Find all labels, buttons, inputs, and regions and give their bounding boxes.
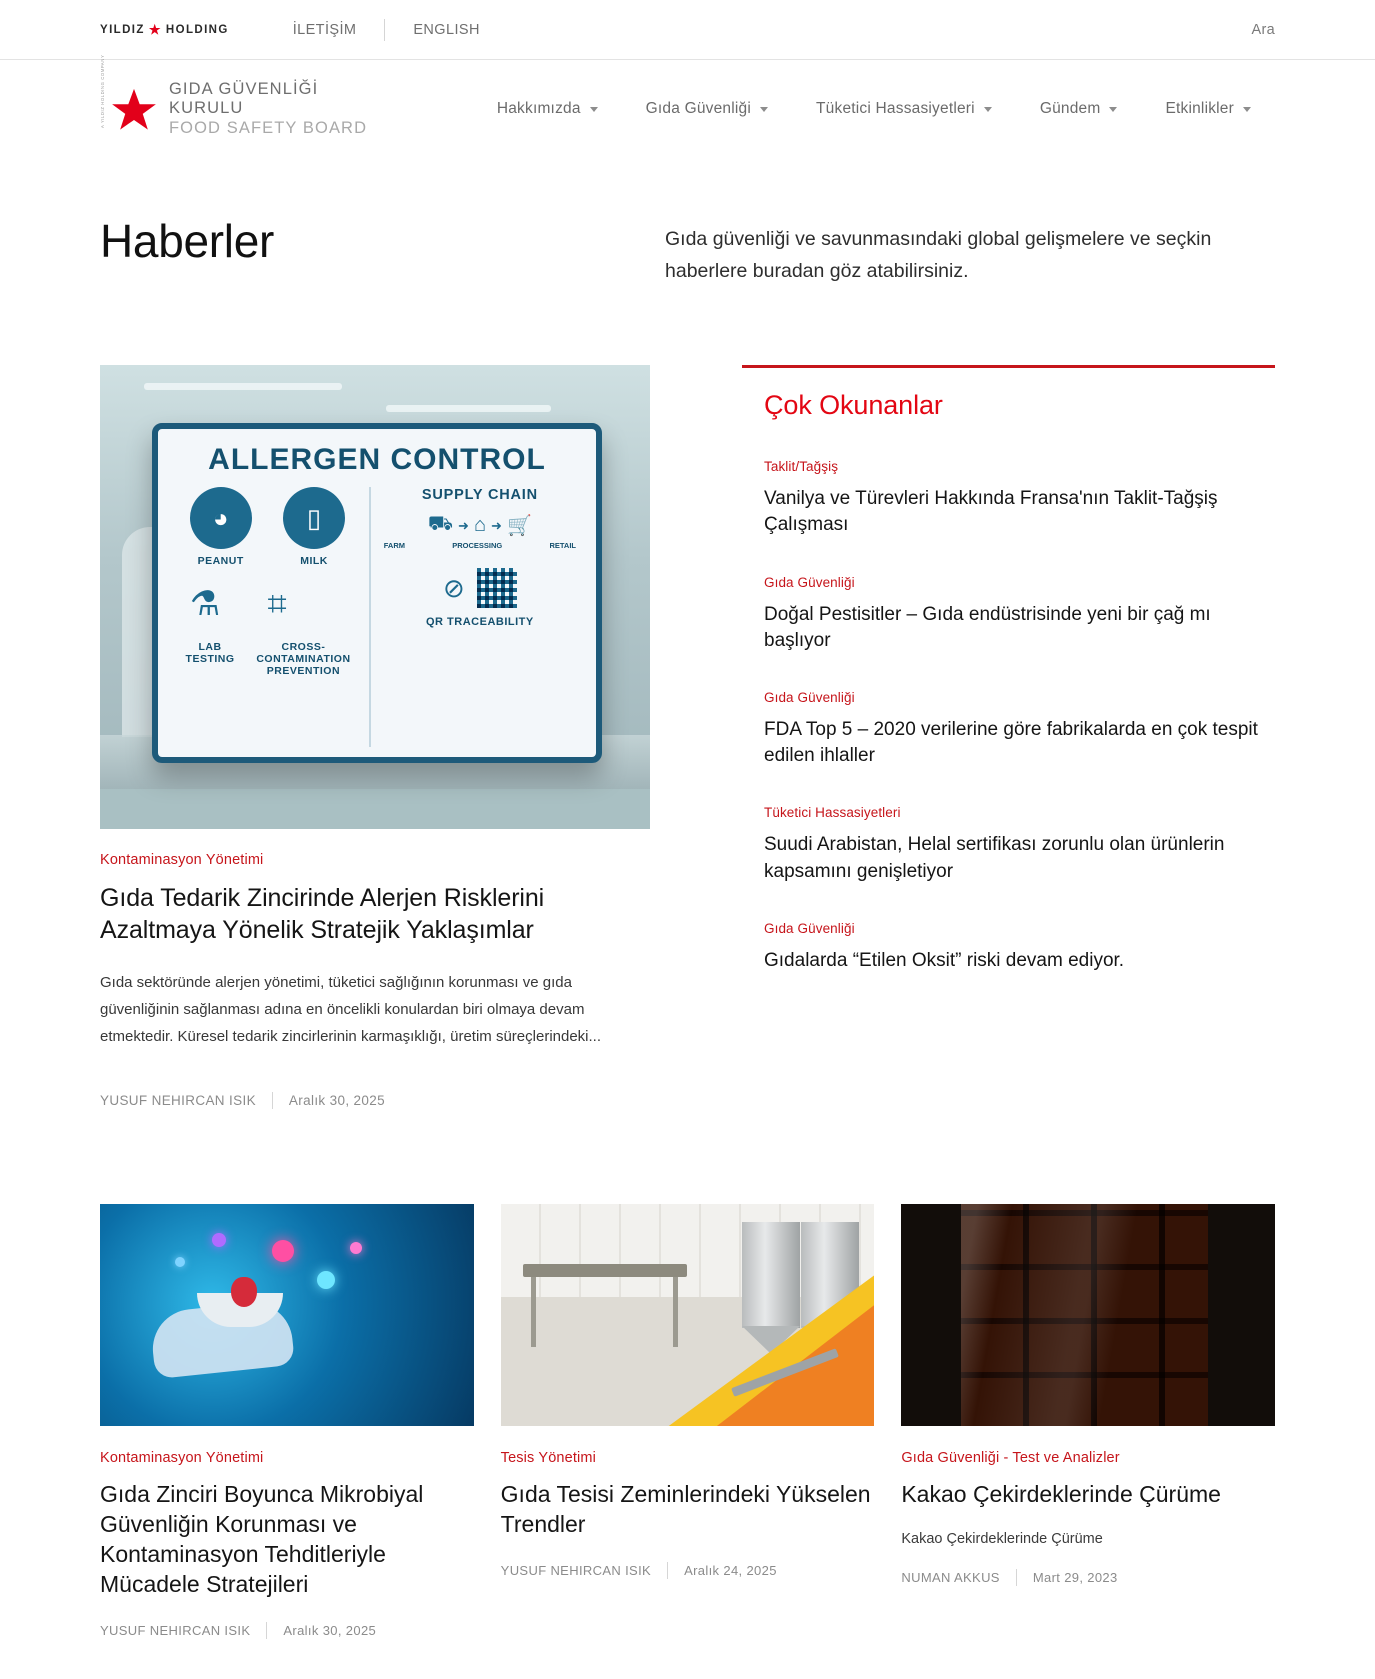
meta-divider [667,1562,668,1579]
table-leg [531,1277,536,1347]
star-icon: ★ [149,23,162,36]
microbe-icon [212,1233,226,1247]
supply-chain-labels: FARM PROCESSING RETAIL [380,541,580,550]
ceiling-light [386,405,551,412]
processing-icon: ⌂ [474,514,486,537]
page-subtitle: Gıda güvenliği ve savunmasındaki global … [665,216,1225,287]
cross-contamination-group: ⌗ CROSS-CONTAMINATION PREVENTION [246,573,361,677]
brand-text: GIDA GÜVENLİĞİ KURULU FOOD SAFETY BOARD [169,80,381,138]
sidebar-item-category[interactable]: Gıda Güvenliği [764,575,1275,590]
milk-icon-group: ▯ MILK [283,487,345,567]
chocolate-highlight [961,1204,1208,1426]
method-icon-row: ⚗ LAB TESTING ⌗ CROSS-CONTAMINATION PREV… [174,573,361,677]
cross-contamination-label: CROSS-CONTAMINATION PREVENTION [246,641,361,677]
content-grid: ALLERGEN CONTROL ◕ PEANUT ▯ MILK [0,287,1375,1109]
search-trigger[interactable]: Ara [1252,22,1275,38]
article-card: Gıda Güvenliği - Test ve Analizler Kakao… [901,1204,1275,1639]
card-meta: YUSUF NEHIRCAN ISIK Aralık 24, 2025 [501,1562,875,1579]
chain-label-processing: PROCESSING [452,541,502,550]
sidebar-list: Taklit/Tağşiş Vanilya ve Türevleri Hakkı… [764,459,1275,974]
meta-divider [272,1092,273,1109]
featured-article: ALLERGEN CONTROL ◕ PEANUT ▯ MILK [100,365,650,1109]
card-image-facility-floor[interactable] [501,1204,875,1426]
nav-label-etkinlikler: Etkinlikler [1165,100,1234,118]
list-item[interactable]: Gıda Güvenliği FDA Top 5 – 2020 verileri… [764,690,1275,769]
nav-item-etkinlikler[interactable]: Etkinlikler [1141,100,1275,118]
cross-contamination-icon: ⌗ [246,573,308,635]
card-meta: YUSUF NEHIRCAN ISIK Aralık 30, 2025 [100,1622,474,1639]
card-date: Mart 29, 2023 [1033,1570,1118,1585]
holding-logo-pre: YILDIZ [100,24,145,36]
yildiz-holding-logo[interactable]: YILDIZ ★ HOLDING [100,23,229,36]
peanut-icon-group: ◕ PEANUT [190,487,252,567]
qr-code-icon [477,568,517,608]
peanut-label: PEANUT [190,555,252,567]
arrow-right-icon: ➜ [458,518,469,534]
lab-testing-group: ⚗ LAB TESTING [174,573,246,677]
sidebar-item-headline[interactable]: FDA Top 5 – 2020 verilerine göre fabrika… [764,717,1269,769]
chevron-down-icon [590,107,598,112]
card-title[interactable]: Gıda Tesisi Zeminlerindeki Yükselen Tren… [501,1480,875,1540]
nav-label-tuketici-hassasiyetleri: Tüketici Hassasiyetleri [816,100,975,118]
chevron-down-icon [760,107,768,112]
most-read-sidebar: Çok Okunanlar Taklit/Tağşiş Vanilya ve T… [650,365,1275,1109]
utility-links: İLETİŞİM ENGLISH [265,19,508,41]
farm-icon: ⛟ [428,513,453,538]
main-navigation: Hakkımızda Gıda Güvenliği Tüketici Hassa… [473,100,1275,118]
nav-label-gundem: Gündem [1040,100,1101,118]
sidebar-item-category[interactable]: Gıda Güvenliği [764,921,1275,936]
arrow-right-icon: ➜ [491,518,502,534]
nav-item-gundem[interactable]: Gündem [1016,100,1142,118]
supply-chain-diagram: ⛟ ➜ ⌂ ➜ 🛒 [380,513,580,538]
top-link-english[interactable]: ENGLISH [385,22,507,38]
nav-label-gida-guvenligi: Gıda Güvenliği [646,100,751,118]
featured-category[interactable]: Kontaminasyon Yönetimi [100,852,650,868]
card-date: Aralık 24, 2025 [684,1563,777,1578]
meta-divider [1016,1569,1017,1586]
list-item[interactable]: Tüketici Hassasiyetleri Suudi Arabistan,… [764,805,1275,884]
milk-label: MILK [283,555,345,567]
featured-meta: YUSUF NEHIRCAN ISIK Aralık 30, 2025 [100,1092,650,1109]
sidebar-item-headline[interactable]: Vanilya ve Türevleri Hakkında Fransa'nın… [764,486,1269,538]
list-item[interactable]: Gıda Güvenliği Gıdalarda “Etilen Oksit” … [764,921,1275,974]
ceiling-light [144,383,342,390]
supply-chain-column: SUPPLY CHAIN ⛟ ➜ ⌂ ➜ 🛒 FARM PROCESSING [369,487,580,747]
factory-floor [100,789,650,829]
brand-line-tr: GIDA GÜVENLİĞİ KURULU [169,80,381,119]
table-leg [673,1277,678,1347]
sidebar-item-headline[interactable]: Doğal Pestisitler – Gıda endüstrisinde y… [764,602,1269,654]
sidebar-top-rule [742,365,1275,368]
holding-logo-post: HOLDING [166,24,229,36]
allergen-icon-row: ◕ PEANUT ▯ MILK [174,487,361,567]
card-meta: NUMAN AKKUS Mart 29, 2023 [901,1569,1275,1586]
chevron-down-icon [1109,107,1117,112]
brand-vertical-tag: A YILDIZ HOLDING COMPANY [100,90,105,128]
supply-chain-title: SUPPLY CHAIN [380,487,580,503]
microbe-icon [350,1242,362,1254]
nav-label-hakkimizda: Hakkımızda [497,100,581,118]
sidebar-item-category[interactable]: Taklit/Tağşiş [764,459,1275,474]
card-subtitle: Kakao Çekirdeklerinde Çürüme [901,1528,1275,1551]
featured-date: Aralık 30, 2025 [289,1093,385,1108]
list-item[interactable]: Taklit/Tağşiş Vanilya ve Türevleri Hakkı… [764,459,1275,538]
card-category[interactable]: Kontaminasyon Yönetimi [100,1450,474,1466]
sidebar-item-category[interactable]: Gıda Güvenliği [764,690,1275,705]
nav-item-hakkimizda[interactable]: Hakkımızda [473,100,622,118]
featured-title[interactable]: Gıda Tedarik Zincirinde Alerjen Riskleri… [100,882,650,946]
featured-excerpt: Gıda sektöründe alerjen yönetimi, tüketi… [100,970,648,1050]
chain-label-retail: RETAIL [549,541,576,550]
microscope-icon: ⚗ [174,573,236,635]
card-author: YUSUF NEHIRCAN ISIK [501,1563,651,1578]
microbe-icon [317,1271,335,1289]
featured-image[interactable]: ALLERGEN CONTROL ◕ PEANUT ▯ MILK [100,365,650,829]
chevron-down-icon [984,107,992,112]
sign-body: ◕ PEANUT ▯ MILK ⚗ [174,487,580,747]
top-link-iletisim[interactable]: İLETİŞİM [265,22,385,38]
allergen-control-sign: ALLERGEN CONTROL ◕ PEANUT ▯ MILK [152,423,602,763]
peanut-icon: ◕ [190,487,252,549]
sidebar-item-category[interactable]: Tüketici Hassasiyetleri [764,805,1275,820]
card-image-microbial[interactable] [100,1204,474,1426]
article-card-row: Kontaminasyon Yönetimi Gıda Zinciri Boyu… [0,1109,1375,1679]
sidebar-item-headline[interactable]: Gıdalarda “Etilen Oksit” riski devam edi… [764,948,1269,974]
milk-bottle-icon: ▯ [283,487,345,549]
card-image-chocolate[interactable] [901,1204,1275,1426]
card-title[interactable]: Kakao Çekirdeklerinde Çürüme [901,1480,1275,1510]
retail-icon: 🛒 [507,513,532,538]
no-scan-icon: ⊘ [443,573,465,604]
article-card: Kontaminasyon Yönetimi Gıda Zinciri Boyu… [100,1204,474,1639]
qr-row: ⊘ [380,568,580,608]
brand-logo[interactable]: A YILDIZ HOLDING COMPANY GIDA GÜVENLİĞİ … [100,80,381,138]
qr-traceability-label: QR TRACEABILITY [380,616,580,628]
card-author: NUMAN AKKUS [901,1570,999,1585]
article-card: Tesis Yönetimi Gıda Tesisi Zeminlerindek… [501,1204,875,1639]
nav-item-tuketici-hassasiyetleri[interactable]: Tüketici Hassasiyetleri [792,100,1016,118]
featured-author: YUSUF NEHIRCAN ISIK [100,1093,256,1108]
brand-line-en: FOOD SAFETY BOARD [169,119,381,138]
page-root: YILDIZ ★ HOLDING İLETİŞİM ENGLISH Ara A … [0,0,1375,1679]
page-title: Haberler [100,216,665,267]
card-title[interactable]: Gıda Zinciri Boyunca Mikrobiyal Güvenliğ… [100,1480,474,1600]
sign-icons-column: ◕ PEANUT ▯ MILK ⚗ [174,487,361,747]
steel-table [523,1264,687,1277]
site-header: A YILDIZ HOLDING COMPANY GIDA GÜVENLİĞİ … [0,60,1375,158]
red-star-icon [112,88,156,130]
card-category[interactable]: Gıda Güvenliği - Test ve Analizler [901,1450,1275,1466]
sidebar-title: Çok Okunanlar [764,390,1275,421]
microbe-icon [175,1257,185,1267]
card-category[interactable]: Tesis Yönetimi [501,1450,875,1466]
utility-topbar: YILDIZ ★ HOLDING İLETİŞİM ENGLISH Ara [0,0,1375,60]
list-item[interactable]: Gıda Güvenliği Doğal Pestisitler – Gıda … [764,575,1275,654]
sidebar-item-headline[interactable]: Suudi Arabistan, Helal sertifikası zorun… [764,832,1269,884]
storage-tank [742,1222,800,1328]
chain-label-farm: FARM [384,541,405,550]
nav-item-gida-guvenligi[interactable]: Gıda Güvenliği [622,100,792,118]
lab-testing-label: LAB TESTING [174,641,246,665]
meta-divider [266,1622,267,1639]
microbe-icon [272,1240,294,1262]
chevron-down-icon [1243,107,1251,112]
sign-title: ALLERGEN CONTROL [174,443,580,477]
page-hero: Haberler Gıda güvenliği ve savunmasındak… [0,158,1375,287]
